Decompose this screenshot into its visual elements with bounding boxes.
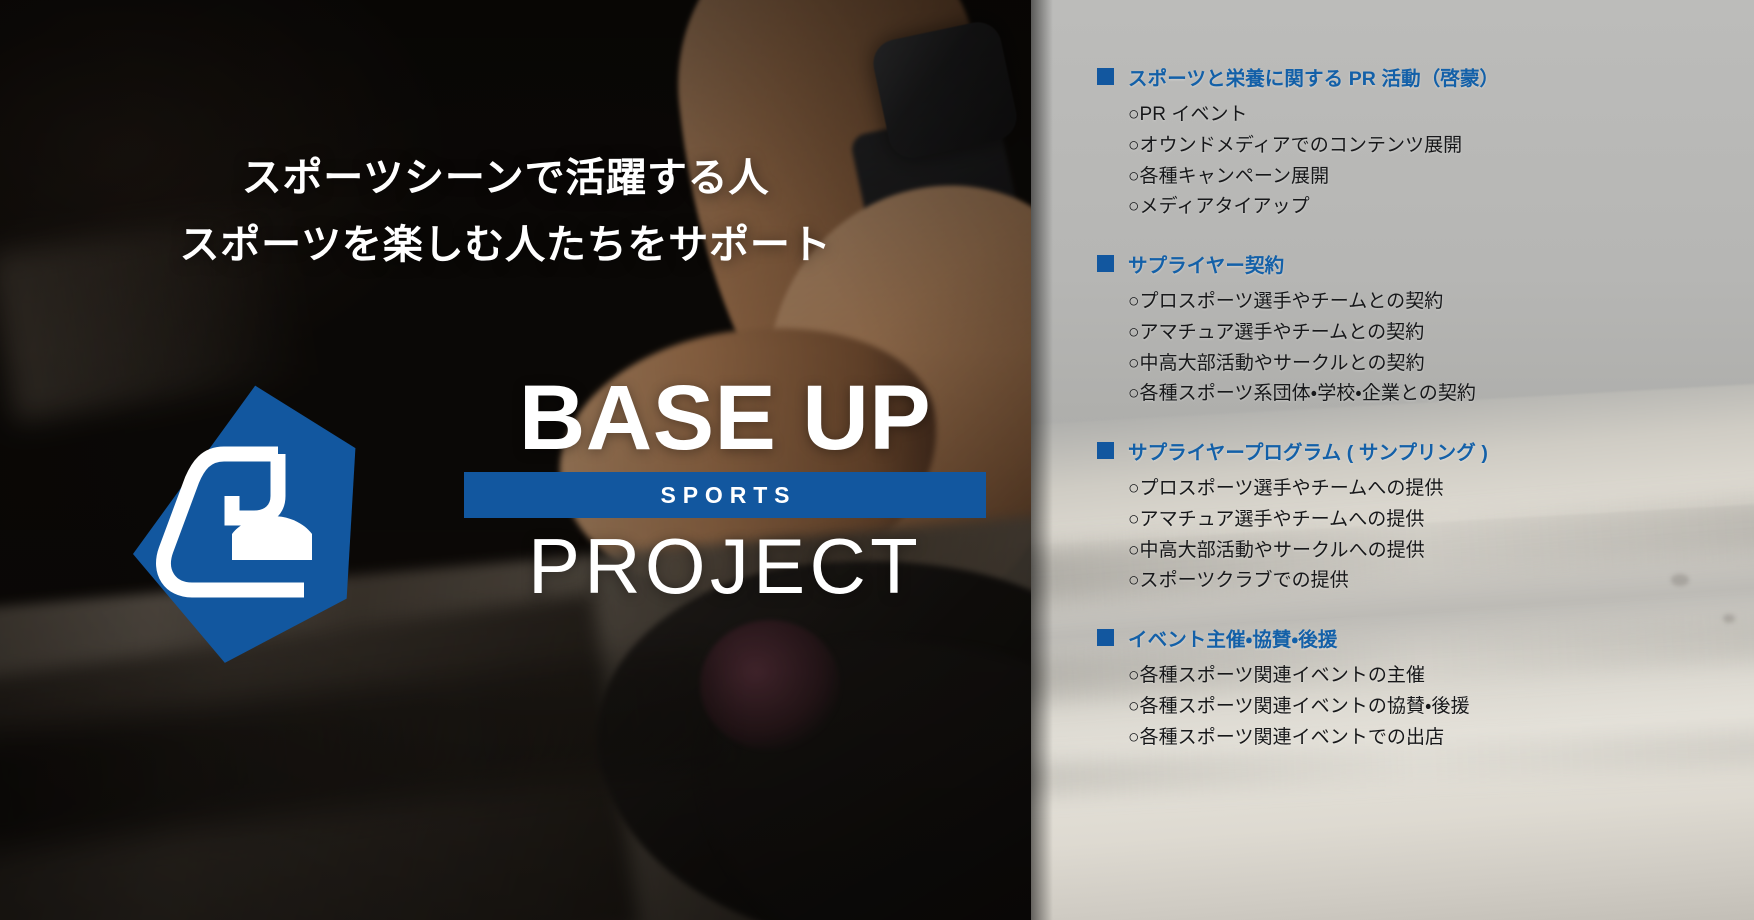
slide-root: スポーツシーンで活躍する人 スポーツを楽しむ人たちをサポート BASE UP S… (0, 0, 1754, 920)
program-section: イベント主催・協賛・後援 ○各種スポーツ関連イベントの主催 ○各種スポーツ関連イ… (1031, 623, 1754, 753)
program-list-item: ○各種スポーツ関連イベントの主催 (1128, 661, 1754, 692)
program-section: サプライヤー契約 ○プロスポーツ選手やチームとの契約 ○アマチュア選手やチームと… (1031, 249, 1754, 410)
program-item-label: 各種スポーツ関連イベントの主催 (1140, 665, 1425, 686)
program-section: サプライヤープログラム ( サンプリング ) ○プロスポーツ選手やチームへの提供… (1031, 436, 1754, 597)
circle-bullet-icon: ○ (1128, 192, 1140, 223)
program-item-list: ○プロスポーツ選手やチームとの契約 ○アマチュア選手やチームとの契約 ○中高大部… (1097, 287, 1754, 410)
program-item-label: プロスポーツ選手やチームとの契約 (1140, 291, 1444, 312)
circle-bullet-icon: ○ (1128, 692, 1140, 723)
circle-bullet-icon: ○ (1128, 474, 1140, 505)
hero-headline-line-1: スポーツシーンで活躍する人 (0, 150, 1011, 207)
program-list-item: ○プロスポーツ選手やチームへの提供 (1128, 474, 1754, 505)
program-list-item: ○アマチュア選手やチームへの提供 (1128, 505, 1754, 536)
hero-photo-panel: スポーツシーンで活躍する人 スポーツを楽しむ人たちをサポート BASE UP S… (0, 0, 1031, 920)
circle-bullet-icon: ○ (1128, 661, 1140, 692)
program-section-header: サプライヤー契約 (1097, 249, 1754, 278)
program-item-list: ○各種スポーツ関連イベントの主催 ○各種スポーツ関連イベントの協賛・後援 ○各種… (1097, 661, 1754, 753)
circle-bullet-icon: ○ (1128, 536, 1140, 567)
hero-headline-line-2: スポーツを楽しむ人たちをサポート (0, 217, 1011, 274)
program-item-label: プロスポーツ選手やチームへの提供 (1140, 478, 1444, 499)
program-list-item: ○オウンドメディアでのコンテンツ展開 (1128, 131, 1754, 162)
program-section: スポーツと栄養に関する PR 活動（啓蒙） ○PR イベント ○オウンドメディア… (1031, 62, 1754, 223)
program-section-title: スポーツと栄養に関する PR 活動（啓蒙） (1128, 62, 1499, 91)
circle-bullet-icon: ○ (1128, 349, 1140, 380)
program-item-label: 各種スポーツ関連イベントでの出店 (1140, 727, 1445, 748)
flexed-arm-pentagon-logo-icon (128, 384, 366, 664)
program-item-label: スポーツクラブでの提供 (1140, 570, 1349, 591)
program-item-label: オウンドメディアでのコンテンツ展開 (1140, 135, 1463, 156)
program-list-item: ○メディアタイアップ (1128, 192, 1754, 223)
circle-bullet-icon: ○ (1128, 379, 1140, 410)
program-section-title: イベント主催・協賛・後援 (1128, 623, 1337, 652)
program-section-title: サプライヤープログラム ( サンプリング ) (1128, 436, 1488, 465)
wordmark-sports-bar: SPORTS (464, 472, 986, 518)
program-list-item: ○各種スポーツ系団体・学校・企業との契約 (1128, 379, 1754, 410)
program-item-label: 中高大部活動やサークルとの契約 (1140, 353, 1425, 374)
brand-lockup: BASE UP SPORTS PROJECT (128, 372, 978, 672)
program-item-label: アマチュア選手やチームとの契約 (1140, 322, 1425, 343)
program-section-header: サプライヤープログラム ( サンプリング ) (1097, 436, 1754, 465)
program-list-item: ○各種キャンペーン展開 (1128, 162, 1754, 193)
program-section-title: サプライヤー契約 (1128, 249, 1284, 278)
circle-bullet-icon: ○ (1128, 100, 1140, 131)
program-list-item: ○各種スポーツ関連イベントの協賛・後援 (1128, 692, 1754, 723)
program-list-item: ○PR イベント (1128, 100, 1754, 131)
content-panel: スポーツと栄養に関する PR 活動（啓蒙） ○PR イベント ○オウンドメディア… (1031, 0, 1754, 920)
program-item-list: ○プロスポーツ選手やチームへの提供 ○アマチュア選手やチームへの提供 ○中高大部… (1097, 474, 1754, 597)
program-section-header: スポーツと栄養に関する PR 活動（啓蒙） (1097, 62, 1754, 91)
program-item-label: 中高大部活動やサークルへの提供 (1140, 540, 1425, 561)
program-sections: スポーツと栄養に関する PR 活動（啓蒙） ○PR イベント ○オウンドメディア… (1031, 0, 1754, 920)
circle-bullet-icon: ○ (1128, 566, 1140, 597)
circle-bullet-icon: ○ (1128, 318, 1140, 349)
program-item-label: 各種スポーツ系団体・学校・企業との契約 (1140, 383, 1476, 404)
blue-square-bullet-icon (1097, 442, 1114, 459)
blue-square-bullet-icon (1097, 255, 1114, 272)
program-list-item: ○プロスポーツ選手やチームとの契約 (1128, 287, 1754, 318)
blue-square-bullet-icon (1097, 629, 1114, 646)
program-item-label: 各種スポーツ関連イベントの協賛・後援 (1140, 696, 1470, 717)
program-item-label: PR イベント (1140, 104, 1248, 125)
program-list-item: ○中高大部活動やサークルへの提供 (1128, 536, 1754, 567)
program-item-label: メディアタイアップ (1140, 196, 1310, 217)
wordmark-project: PROJECT (464, 526, 986, 608)
circle-bullet-icon: ○ (1128, 162, 1140, 193)
wordmark: BASE UP SPORTS PROJECT (464, 372, 986, 608)
program-item-list: ○PR イベント ○オウンドメディアでのコンテンツ展開 ○各種キャンペーン展開 … (1097, 100, 1754, 223)
program-list-item: ○各種スポーツ関連イベントでの出店 (1128, 723, 1754, 754)
program-item-label: アマチュア選手やチームへの提供 (1140, 509, 1425, 530)
hero-headline: スポーツシーンで活躍する人 スポーツを楽しむ人たちをサポート (0, 150, 1031, 274)
circle-bullet-icon: ○ (1128, 505, 1140, 536)
blue-square-bullet-icon (1097, 68, 1114, 85)
program-list-item: ○中高大部活動やサークルとの契約 (1128, 349, 1754, 380)
wordmark-sports-label: SPORTS (654, 482, 797, 509)
circle-bullet-icon: ○ (1128, 131, 1140, 162)
program-section-header: イベント主催・協賛・後援 (1097, 623, 1754, 652)
program-item-label: 各種キャンペーン展開 (1140, 166, 1330, 187)
circle-bullet-icon: ○ (1128, 287, 1140, 318)
program-list-item: ○スポーツクラブでの提供 (1128, 566, 1754, 597)
program-list-item: ○アマチュア選手やチームとの契約 (1128, 318, 1754, 349)
circle-bullet-icon: ○ (1128, 723, 1140, 754)
wordmark-base-up: BASE UP (464, 372, 986, 464)
